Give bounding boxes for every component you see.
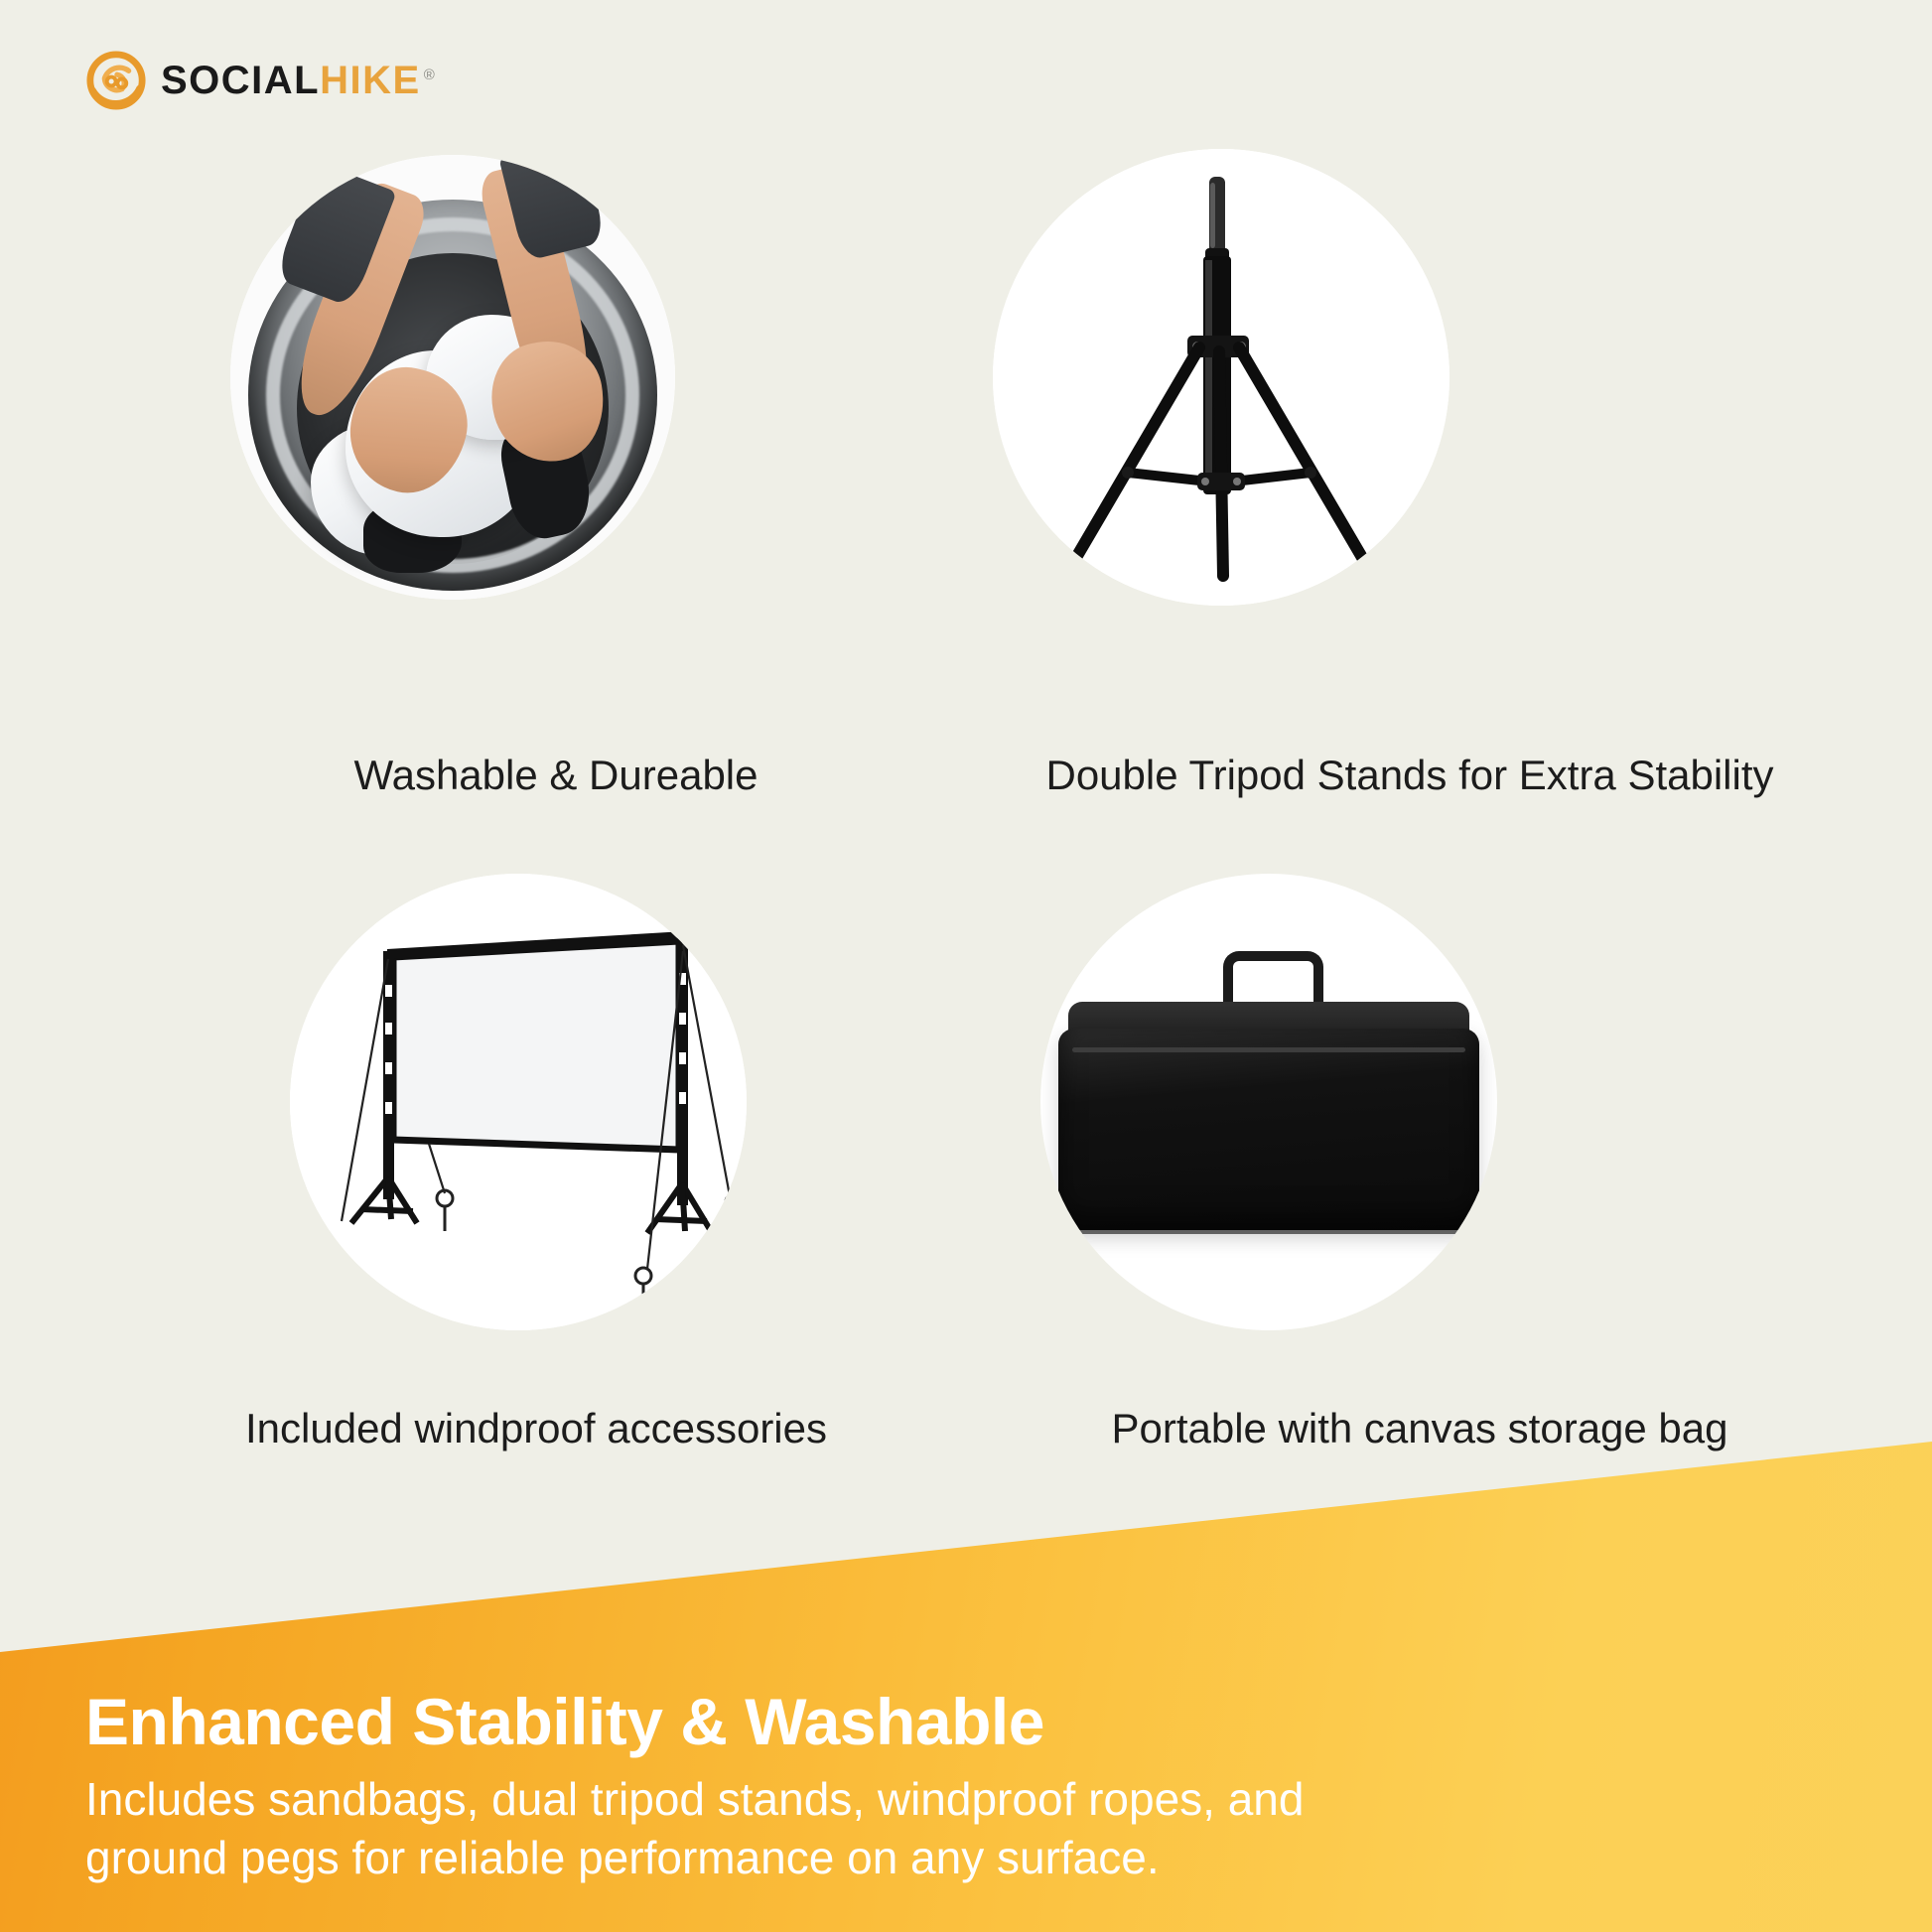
projector-screen-surface xyxy=(393,941,679,1150)
brand-logo: SOCIALHIKE® xyxy=(85,46,436,115)
feature-image-washable xyxy=(230,155,675,600)
feature-caption-tripod: Double Tripod Stands for Extra Stability xyxy=(933,755,1886,796)
washing-scene-art xyxy=(230,155,675,600)
bag-zipper xyxy=(1072,1047,1465,1052)
feature-image-storage-bag xyxy=(1040,874,1497,1330)
bag-main-body xyxy=(1058,1029,1478,1229)
banner-text-block: Enhanced Stability & Washable Includes s… xyxy=(85,1688,1833,1887)
brand-wordmark: SOCIALHIKE® xyxy=(161,61,436,100)
banner-description: Includes sandbags, dual tripod stands, w… xyxy=(85,1770,1833,1887)
feature-image-tripod xyxy=(993,149,1449,606)
brand-name-primary: SOCIAL xyxy=(161,59,320,102)
feature-caption-portable: Portable with canvas storage bag xyxy=(953,1408,1886,1449)
feature-image-windproof xyxy=(290,874,747,1330)
projector-screen-frame-art xyxy=(290,874,747,1330)
brand-name-secondary: HIKE xyxy=(320,59,421,102)
registered-trademark-icon: ® xyxy=(424,67,437,83)
banner-description-line-2: ground pegs for reliable performance on … xyxy=(85,1829,1833,1887)
tripod-stand-art xyxy=(993,149,1449,606)
feature-caption-washable: Washable & Dureable xyxy=(139,755,973,796)
bag-bottom-seam xyxy=(1063,1230,1474,1234)
banner-description-line-1: Includes sandbags, dual tripod stands, w… xyxy=(85,1770,1833,1829)
canvas-bag-art xyxy=(1040,874,1497,1330)
feature-caption-windproof: Included windproof accessories xyxy=(79,1408,993,1449)
socialhike-swirl-logo-icon xyxy=(85,50,147,111)
banner-headline: Enhanced Stability & Washable xyxy=(85,1688,1833,1756)
product-infographic-page: SOCIALHIKE® Washable & Dureable xyxy=(0,0,1932,1932)
